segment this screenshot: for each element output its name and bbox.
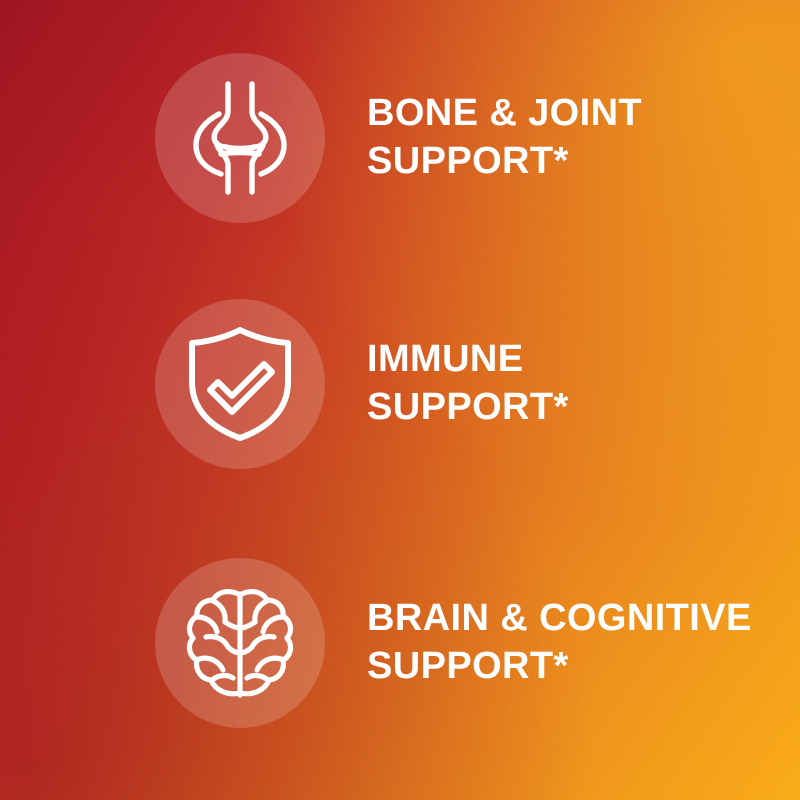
feature-list: Bone & Joint Support* Immune Support* (0, 0, 800, 800)
bone-joint-icon (188, 81, 292, 195)
feature-row: Immune Support* (0, 284, 800, 484)
shield-check-icon (184, 326, 296, 442)
icon-badge-brain (155, 558, 325, 728)
brain-icon (182, 585, 298, 701)
feature-label: Immune Support* (367, 336, 800, 432)
icon-badge-bone-joint (155, 53, 325, 223)
feature-row: Bone & Joint Support* (0, 38, 800, 238)
feature-label: Brain & Cognitive Support* (367, 595, 800, 691)
feature-row: Brain & Cognitive Support* (0, 543, 800, 743)
icon-badge-immune (155, 299, 325, 469)
benefits-poster: Bone & Joint Support* Immune Support* (0, 0, 800, 800)
feature-label: Bone & Joint Support* (367, 90, 800, 186)
